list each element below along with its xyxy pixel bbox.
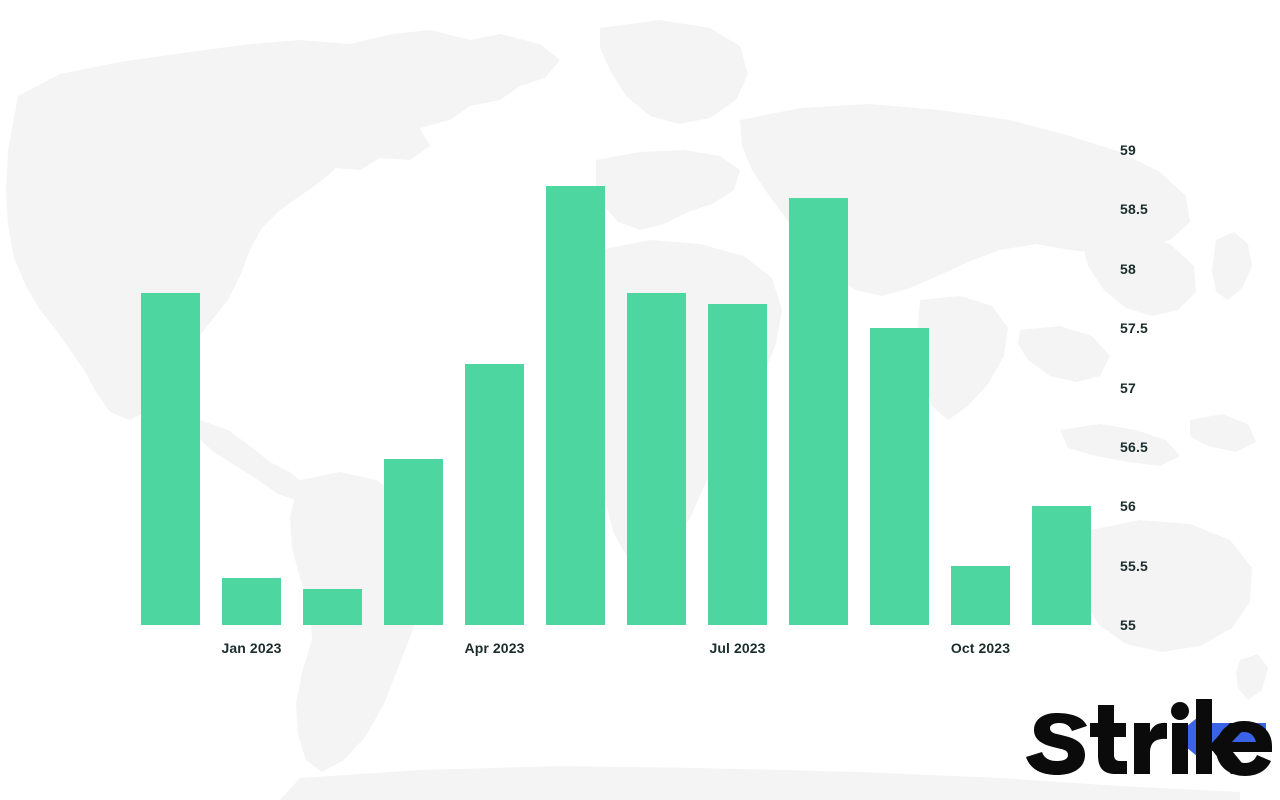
- x-axis-tick-labels: Jan 2023Apr 2023Jul 2023Oct 2023: [0, 640, 1280, 670]
- bar[interactable]: [303, 589, 362, 625]
- bar[interactable]: [546, 186, 605, 625]
- bar[interactable]: [1032, 506, 1091, 625]
- bar[interactable]: [465, 364, 524, 625]
- y-axis-tick-label: 58.5: [1120, 201, 1148, 217]
- bar[interactable]: [222, 578, 281, 626]
- bar[interactable]: [627, 293, 686, 626]
- x-axis-tick-label: Apr 2023: [465, 640, 525, 656]
- y-axis-tick-label: 59: [1120, 142, 1136, 158]
- x-axis-tick-label: Jul 2023: [709, 640, 765, 656]
- bar[interactable]: [141, 293, 200, 626]
- y-axis-tick-labels: 5958.55857.55756.55655.555: [1108, 0, 1188, 800]
- y-axis-tick-label: 57.5: [1120, 320, 1148, 336]
- y-axis-tick-label: 55.5: [1120, 558, 1148, 574]
- bar-chart-plot-area: [141, 150, 1091, 625]
- bar[interactable]: [870, 328, 929, 625]
- y-axis-tick-label: 58: [1120, 261, 1136, 277]
- bar[interactable]: [708, 304, 767, 625]
- x-axis-tick-label: Jan 2023: [222, 640, 282, 656]
- bar[interactable]: [789, 198, 848, 626]
- y-axis-tick-label: 56: [1120, 498, 1136, 514]
- strike-logo: [1022, 693, 1272, 779]
- y-axis-tick-label: 55: [1120, 617, 1136, 633]
- bar[interactable]: [951, 566, 1010, 625]
- y-axis-tick-label: 57: [1120, 380, 1136, 396]
- chart-page: 5958.55857.55756.55655.555 Jan 2023Apr 2…: [0, 0, 1280, 800]
- x-axis-tick-label: Oct 2023: [951, 640, 1010, 656]
- bar[interactable]: [384, 459, 443, 625]
- y-axis-tick-label: 56.5: [1120, 439, 1148, 455]
